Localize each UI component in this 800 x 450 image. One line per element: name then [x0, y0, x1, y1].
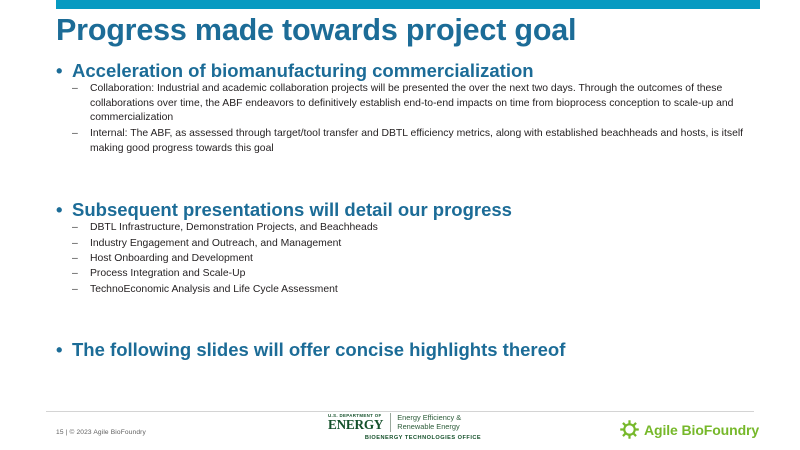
bullet-dash-icon: –	[72, 237, 78, 251]
bullet-dot-icon: •	[56, 339, 72, 361]
section-heading-1: • Acceleration of biomanufacturing comme…	[0, 60, 800, 82]
sub-bullet-item: – DBTL Infrastructure, Demonstration Pro…	[0, 221, 800, 235]
section-heading-2: • Subsequent presentations will detail o…	[0, 199, 800, 221]
sub-bullet-label: Process Integration and Scale-Up	[90, 267, 800, 281]
content-section-3: • The following slides will offer concis…	[0, 339, 800, 361]
sub-bullet-item: – TechnoEconomic Analysis and Life Cycle…	[0, 283, 800, 297]
slide-body: • Acceleration of biomanufacturing comme…	[0, 60, 800, 361]
section-heading-1-label: Acceleration of biomanufacturing commerc…	[72, 60, 534, 82]
sub-bullet-label: Collaboration: Industrial and academic c…	[90, 82, 748, 125]
section-heading-3: • The following slides will offer concis…	[0, 339, 800, 361]
content-section-2: • Subsequent presentations will detail o…	[0, 199, 800, 297]
bullet-dash-icon: –	[72, 267, 78, 281]
sub-bullet-item: – Process Integration and Scale-Up	[0, 267, 800, 281]
doe-wordmark-block: U.S. DEPARTMENT OF ENERGY	[328, 414, 383, 432]
bullet-dash-icon: –	[72, 252, 78, 266]
section-heading-3-label: The following slides will offer concise …	[72, 339, 565, 361]
doe-wordmark: ENERGY	[328, 418, 383, 431]
bullet-dash-icon: –	[72, 127, 78, 141]
doe-logo: U.S. DEPARTMENT OF ENERGY Energy Efficie…	[328, 413, 518, 441]
bullet-dot-icon: •	[56, 60, 72, 82]
doe-logo-row: U.S. DEPARTMENT OF ENERGY Energy Efficie…	[328, 413, 518, 432]
slide: Progress made towards project goal • Acc…	[0, 0, 800, 450]
sub-bullet-item: – Collaboration: Industrial and academic…	[0, 82, 800, 125]
section-heading-2-label: Subsequent presentations will detail our…	[72, 199, 512, 221]
sub-bullet-label: Internal: The ABF, as assessed through t…	[90, 127, 748, 156]
sub-bullet-label: Industry Engagement and Outreach, and Ma…	[90, 237, 800, 251]
sub-bullet-label: TechnoEconomic Analysis and Life Cycle A…	[90, 283, 800, 297]
doe-logo-divider	[390, 413, 391, 432]
bullet-dash-icon: –	[72, 221, 78, 235]
top-accent-bar	[56, 0, 760, 9]
gear-icon	[620, 420, 639, 439]
abf-logo: Agile BioFoundry	[620, 420, 759, 439]
sub-bullet-item: – Internal: The ABF, as assessed through…	[0, 127, 800, 156]
doe-office-line: BIOENERGY TECHNOLOGIES OFFICE	[328, 435, 518, 441]
doe-program-line-2: Renewable Energy	[397, 422, 461, 431]
bullet-dash-icon: –	[72, 283, 78, 297]
sub-bullet-label: Host Onboarding and Development	[90, 252, 800, 266]
sub-bullet-label: DBTL Infrastructure, Demonstration Proje…	[90, 221, 800, 235]
bullet-dot-icon: •	[56, 199, 72, 221]
bullet-dash-icon: –	[72, 82, 78, 96]
doe-program-line-1: Energy Efficiency &	[397, 413, 461, 422]
abf-wordmark: Agile BioFoundry	[644, 422, 759, 438]
doe-program-block: Energy Efficiency & Renewable Energy	[397, 413, 461, 432]
footer-divider	[46, 411, 754, 412]
footer-credit: 15 | © 2023 Agile BioFoundry	[56, 429, 146, 436]
content-section-1: • Acceleration of biomanufacturing comme…	[0, 60, 800, 156]
sub-bullet-item: – Host Onboarding and Development	[0, 252, 800, 266]
sub-bullet-item: – Industry Engagement and Outreach, and …	[0, 237, 800, 251]
page-title: Progress made towards project goal	[56, 13, 766, 47]
